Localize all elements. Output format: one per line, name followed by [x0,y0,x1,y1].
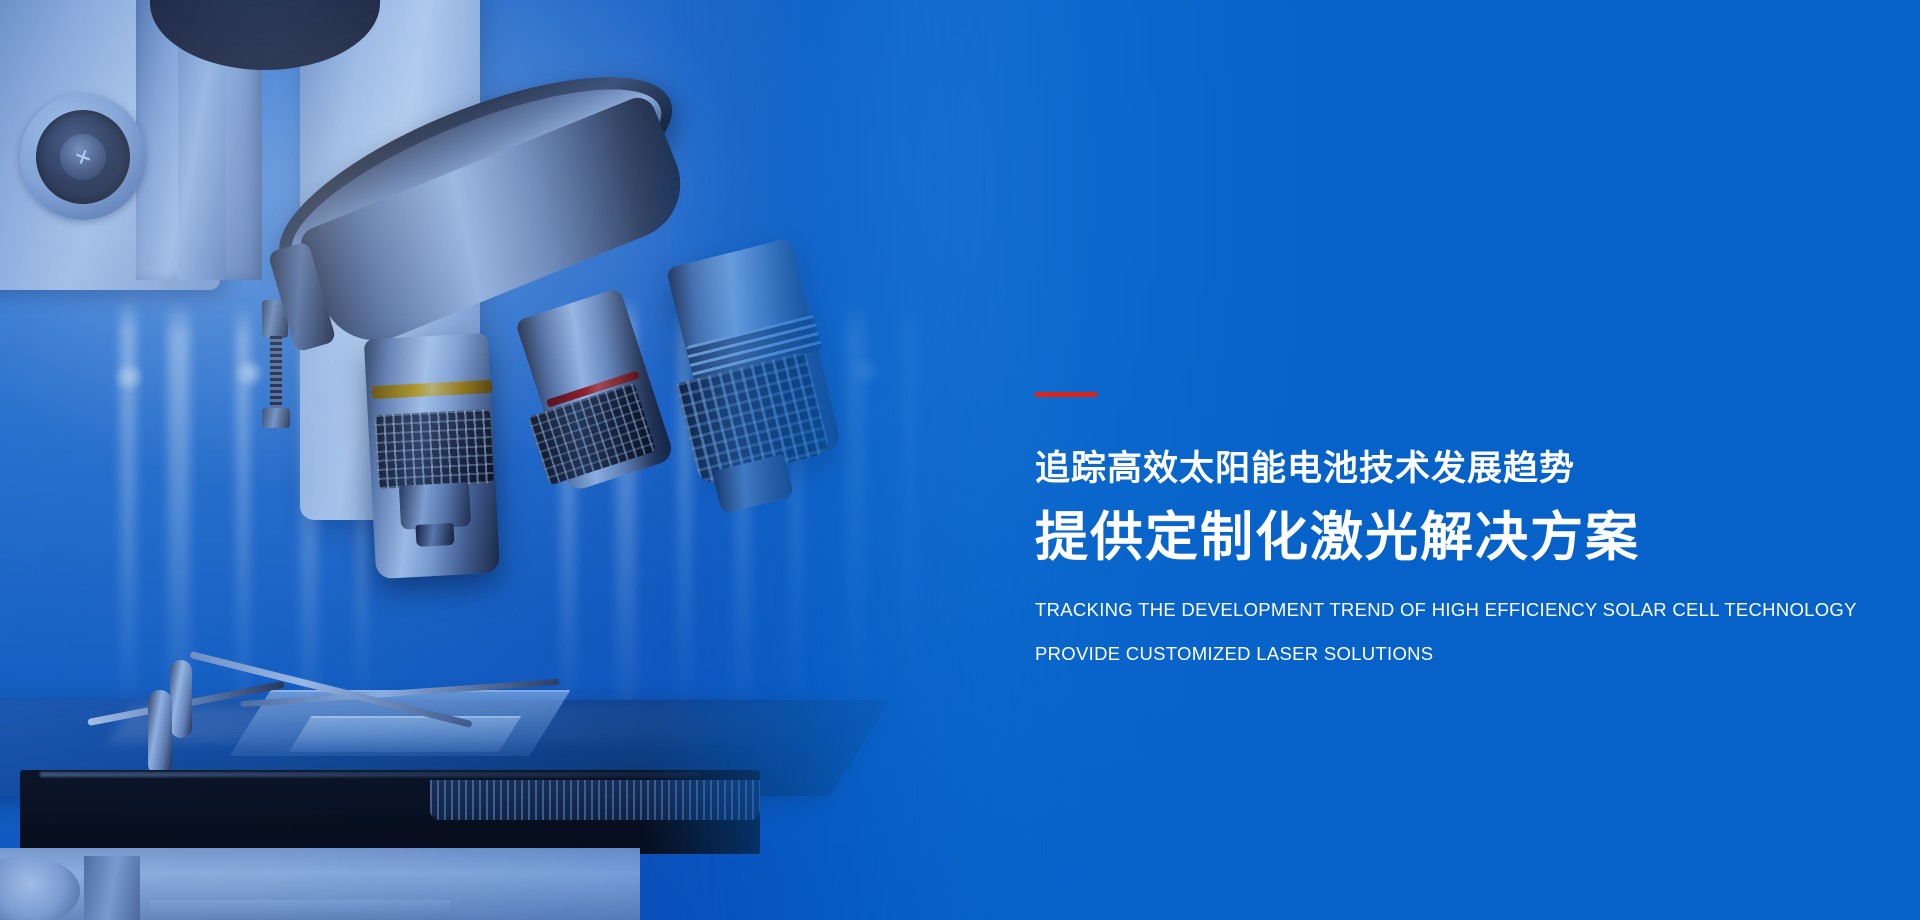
hero-banner: 追踪高效太阳能电池技术发展趋势 提供定制化激光解决方案 TRACKING THE… [0,0,1920,920]
hero-title-cn: 提供定制化激光解决方案 [1035,510,1855,565]
hero-subtitle-cn: 追踪高效太阳能电池技术发展趋势 [1035,451,1855,486]
hero-copy: 追踪高效太阳能电池技术发展趋势 提供定制化激光解决方案 TRACKING THE… [1035,392,1855,663]
hero-subtitle-en-line-2: PROVIDE CUSTOMIZED LASER SOLUTIONS [1035,645,1855,664]
hero-subtitle-en-line-1: TRACKING THE DEVELOPMENT TREND OF HIGH E… [1035,601,1855,620]
accent-rule [1035,392,1097,397]
